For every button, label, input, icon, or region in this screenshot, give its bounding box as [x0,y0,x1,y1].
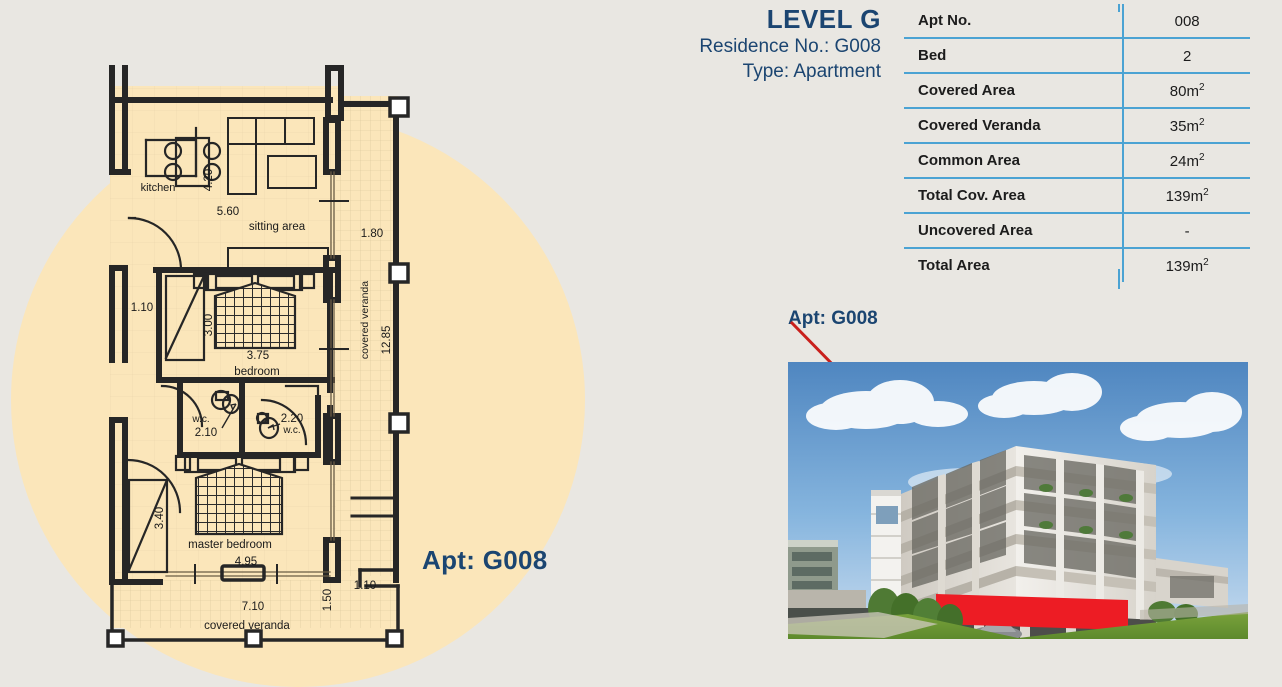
spec-value-unit: 2 [1199,117,1205,128]
spec-value-unit: 2 [1199,152,1205,163]
plan-dim-12-85: 12.85 [381,326,393,355]
spec-value: 008 [1123,4,1250,38]
spec-value: 35m2 [1123,108,1250,143]
photo-apt-label: Apt: G008 [788,308,878,330]
spec-value: - [1123,213,1250,248]
plan-room-kitchen: kitchen [141,182,176,194]
plan-dim-2-10: 2.10 [195,427,217,439]
residence-line: Residence No.: G008 [641,34,881,59]
plan-dim-1-10a: 1.10 [131,302,153,314]
table-row: Common Area 24m2 [904,143,1250,178]
spec-key: Total Area [904,248,1123,282]
table-row: Total Cov. Area 139m2 [904,178,1250,213]
spec-value: 2 [1123,38,1250,73]
plan-room-wc-left: w.c. [191,414,209,425]
spec-value-unit: 2 [1203,257,1209,268]
spec-value: 139m2 [1123,248,1250,282]
plan-dim-1-50: 1.50 [322,589,334,611]
plan-room-bedroom: bedroom [234,366,279,378]
table-row: Bed 2 [904,38,1250,73]
spec-value-text: 35m [1170,118,1199,135]
plan-dim-5-60: 5.60 [217,206,239,218]
spec-value-unit: 2 [1203,187,1209,198]
plan-dim-3-40: 3.40 [154,507,166,529]
floor-plan-panel: kitchen sitting area bedroom master bedr… [0,0,641,660]
spec-value: 139m2 [1123,178,1250,213]
plan-dim-1-10b: 1.10 [354,580,376,592]
spec-value-unit: 2 [1199,82,1205,93]
info-panel: LEVEL G Residence No.: G008 Type: Apartm… [641,0,1282,660]
spec-value-text: - [1185,223,1190,240]
spec-value: 80m2 [1123,73,1250,108]
plan-room-covered-veranda-right: covered veranda [359,281,371,359]
spec-value-text: 24m [1170,153,1199,170]
level-title: LEVEL G [641,4,881,34]
type-line: Type: Apartment [641,59,881,84]
table-row: Apt No. 008 [904,4,1250,38]
spec-value: 24m2 [1123,143,1250,178]
building-photo [788,362,1248,639]
spec-key: Apt No. [904,4,1123,38]
plan-room-wc-right: w.c. [282,425,300,436]
plan-dim-1-80: 1.80 [361,228,383,240]
spec-value-text: 139m [1166,258,1204,275]
spec-key: Bed [904,38,1123,73]
plan-dim-4-20: 4.20 [203,169,215,191]
spec-value-text: 139m [1166,188,1204,205]
table-row: Uncovered Area - [904,213,1250,248]
title-block: LEVEL G Residence No.: G008 Type: Apartm… [641,4,881,84]
spec-key: Common Area [904,143,1123,178]
page-root: kitchen sitting area bedroom master bedr… [0,0,1282,660]
plan-room-covered-veranda-bottom: covered veranda [204,620,290,632]
table-row: Total Area 139m2 [904,248,1250,282]
spec-key: Covered Area [904,73,1123,108]
building-photo-illustration [788,362,1248,639]
plan-dim-3-75: 3.75 [247,350,269,362]
table-row: Covered Veranda 35m2 [904,108,1250,143]
plan-dim-2-20: 2.20 [281,413,303,425]
spec-key: Total Cov. Area [904,178,1123,213]
plan-dim-3-00: 3.00 [203,314,215,336]
plan-dim-7-10: 7.10 [242,601,264,613]
plan-room-sitting-area: sitting area [249,221,306,233]
plan-dim-4-95: 4.95 [235,556,257,568]
spec-key: Uncovered Area [904,213,1123,248]
spec-key: Covered Veranda [904,108,1123,143]
spec-value-text: 2 [1183,48,1191,65]
spec-value-text: 80m [1170,83,1199,100]
plan-room-master-bedroom: master bedroom [188,539,272,551]
table-row: Covered Area 80m2 [904,73,1250,108]
apartment-spec-table: Apt No. 008 Bed 2 Covered Area 80m2 Cove… [904,4,1250,282]
spec-value-text: 008 [1175,13,1200,30]
plan-apt-label: Apt: G008 [422,545,548,576]
